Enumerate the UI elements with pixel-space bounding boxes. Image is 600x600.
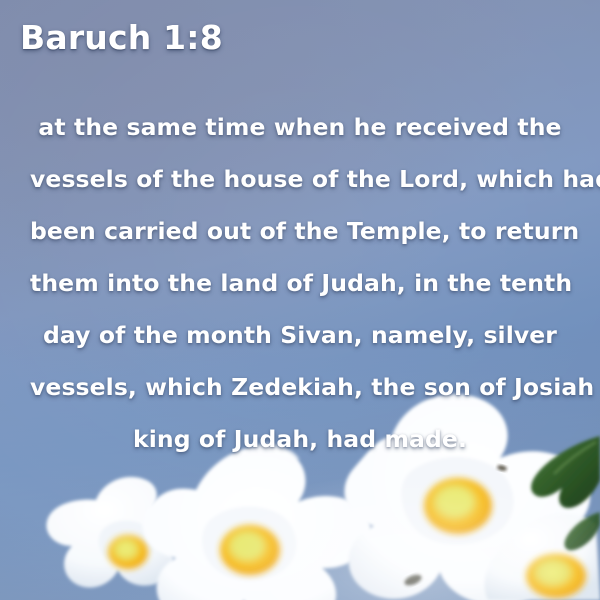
dark-speck	[403, 572, 423, 587]
flower-far-right	[485, 513, 600, 600]
flower-far-right-center	[526, 554, 586, 598]
flower-left	[46, 477, 190, 588]
verse-line: vessels, which Zedekiah, the son of Josi…	[30, 361, 570, 413]
verse-image-card: Baruch 1:8 at the same time when he rece…	[0, 0, 600, 600]
verse-line: them into the land of Judah, in the tent…	[30, 257, 570, 309]
flower-center-left-center	[220, 525, 280, 575]
leaf-right-lower	[564, 512, 600, 550]
verse-line: at the same time when he received the	[30, 101, 570, 153]
verse-line: king of Judah, had made.	[30, 413, 570, 465]
verse-line: day of the month Sivan, namely, silver	[30, 309, 570, 361]
dark-speck-small	[497, 464, 508, 471]
flower-right-center	[424, 478, 492, 534]
verse-line: vessels of the house of the Lord, which …	[30, 153, 570, 205]
flower-left-center	[108, 535, 148, 569]
verse-text: at the same time when he received the ve…	[30, 101, 570, 465]
verse-line: been carried out of the Temple, to retur…	[30, 205, 570, 257]
flower-center-left	[142, 444, 371, 600]
page-title: Baruch 1:8	[20, 18, 223, 57]
